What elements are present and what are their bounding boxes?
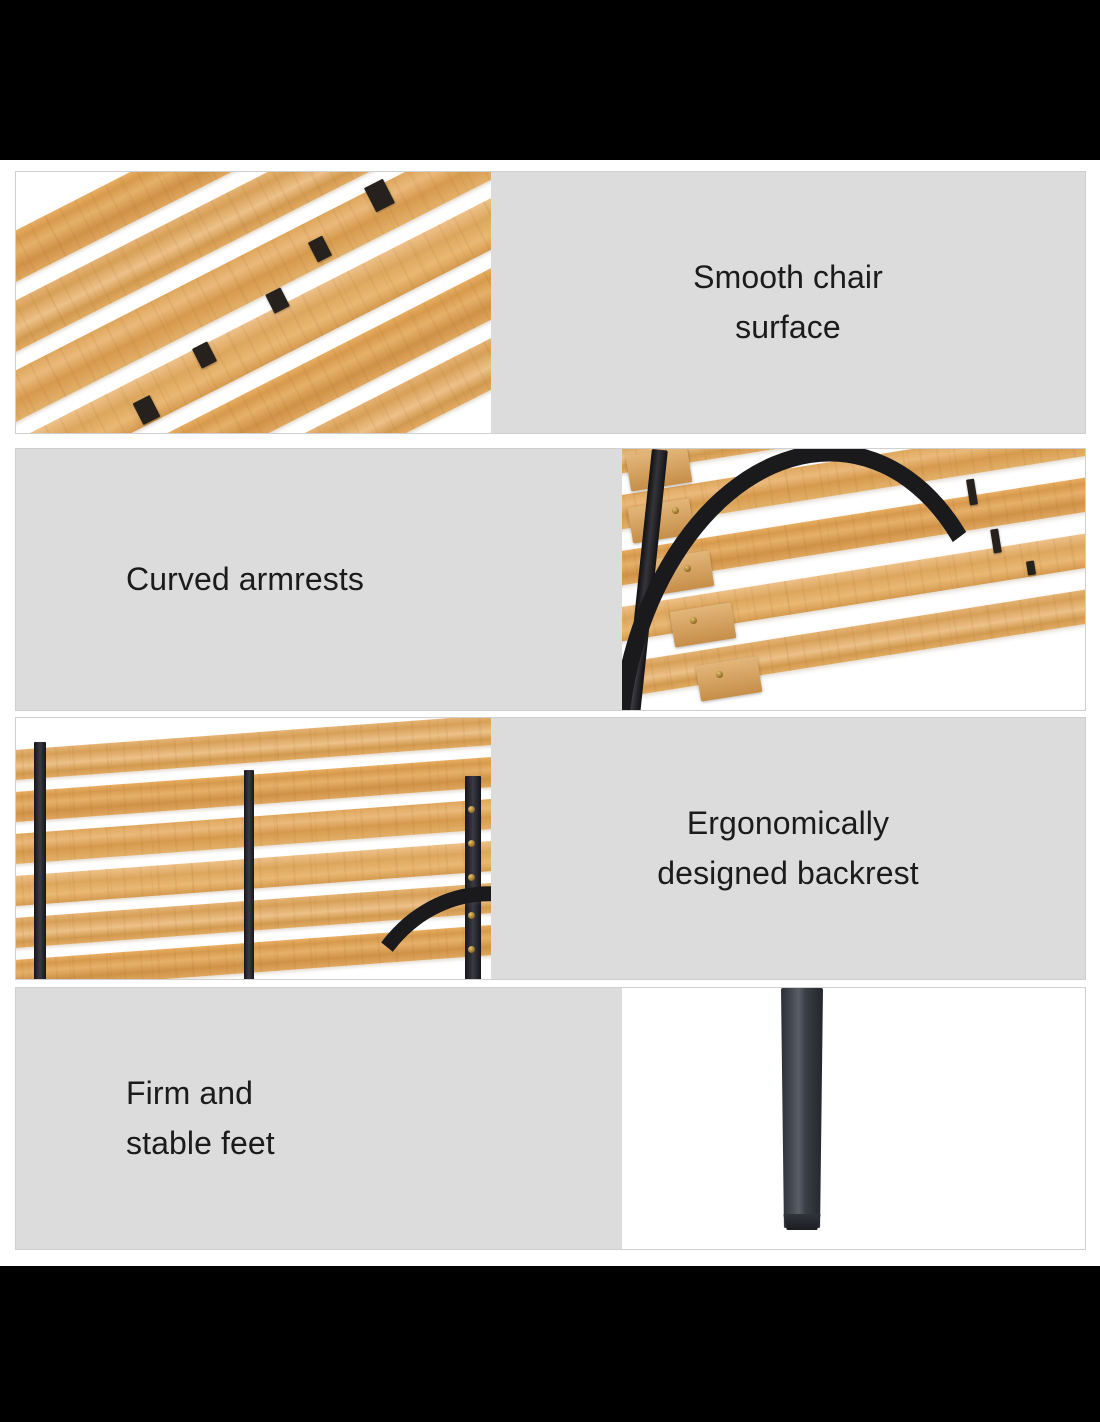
caption-text: Firm and stable feet [16, 1069, 275, 1168]
caption-ergonomic-backrest: Ergonomically designed backrest [491, 718, 1085, 979]
screw-icon [468, 806, 475, 813]
letterbox-top [0, 0, 1100, 160]
photo-smooth-chair-surface [16, 172, 491, 433]
caption-firm-stable-feet: Firm and stable feet [16, 988, 622, 1249]
screw-icon [468, 840, 475, 847]
bench-leg [781, 988, 823, 1228]
letterbox-bottom [0, 1266, 1100, 1422]
screw-icon [468, 874, 475, 881]
caption-text: Ergonomically designed backrest [657, 799, 918, 898]
caption-text: Smooth chair surface [693, 253, 883, 352]
screw-icon [672, 507, 679, 514]
caption-smooth-chair-surface: Smooth chair surface [491, 172, 1085, 433]
product-feature-page: Smooth chair surface Curved armrests [0, 160, 1100, 1266]
bench-foot [782, 1214, 822, 1230]
photo-firm-stable-feet [622, 988, 1085, 1249]
photo-curved-armrests [622, 449, 1085, 710]
caption-curved-armrests: Curved armrests [16, 449, 622, 710]
photo-ergonomic-backrest [16, 718, 491, 979]
feature-panel-smooth-chair-surface: Smooth chair surface [15, 171, 1086, 434]
caption-text: Curved armrests [16, 555, 364, 605]
feature-panel-ergonomic-backrest: Ergonomically designed backrest [15, 717, 1086, 980]
feature-panel-firm-stable-feet: Firm and stable feet [15, 987, 1086, 1250]
backrest-support-post [244, 770, 254, 979]
feature-panel-curved-armrests: Curved armrests [15, 448, 1086, 711]
backrest-support-post [34, 742, 46, 979]
